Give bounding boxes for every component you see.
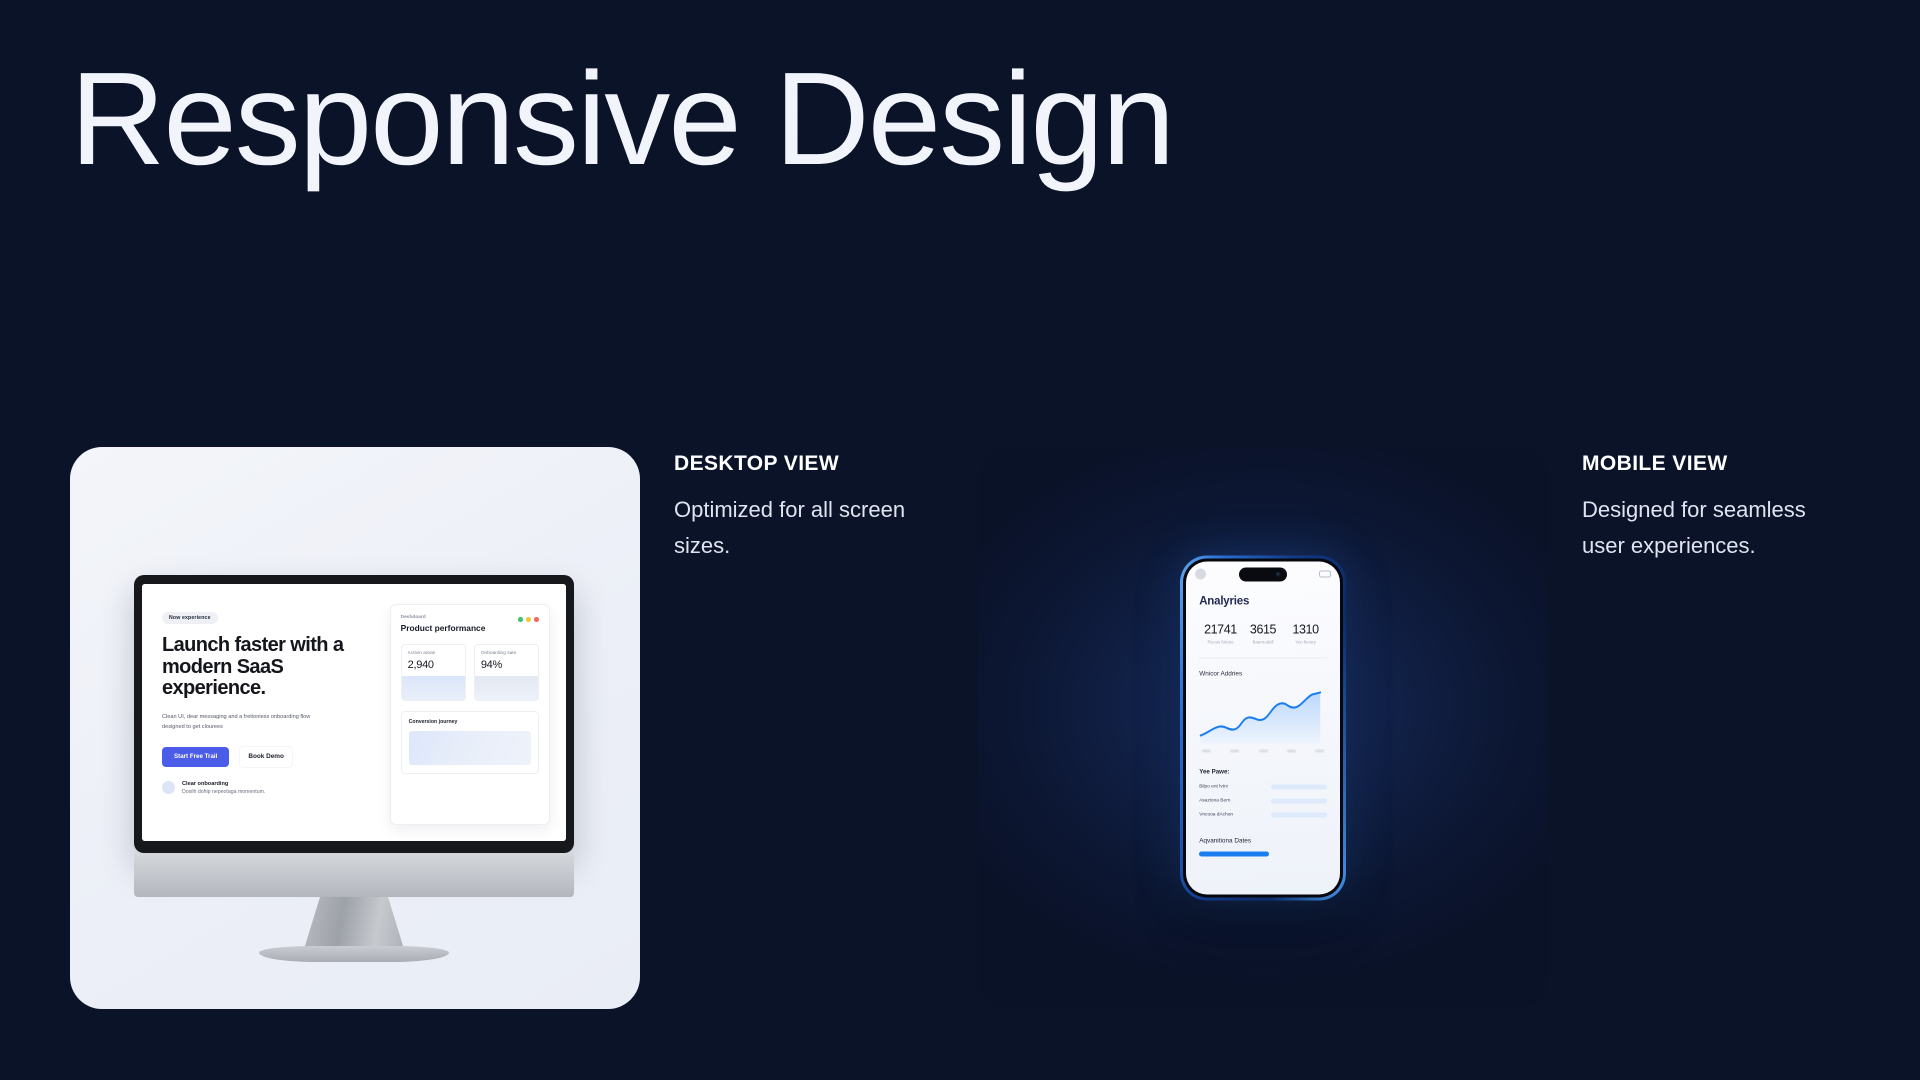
progress-bar <box>1271 785 1327 789</box>
stat-value: 94% <box>481 659 532 671</box>
conversion-journey-panel: Conversion journey <box>401 711 539 774</box>
phone-footer-title: Aqvanitiona Dates <box>1199 837 1327 844</box>
phone-stat: 3615 Baernodell <box>1242 623 1285 645</box>
phone-stat-label: Reous fotoso <box>1199 639 1242 644</box>
stat-sparkline <box>475 676 538 700</box>
hero-footer: Clear onboarding Dosilh dohip nepeotaga … <box>162 781 368 796</box>
progress-bar <box>1271 813 1327 817</box>
phone-chart-title: Wnicor Addries <box>1199 670 1327 677</box>
dashboard-eyebrow: Deshdoard <box>401 615 486 620</box>
stat-label: Activin areas <box>408 651 459 656</box>
window-maximize-dot-icon[interactable] <box>526 617 531 622</box>
desktop-info-description: Optimized for all screen sizes. <box>674 492 924 563</box>
window-close-dot-icon[interactable] <box>534 617 539 622</box>
axis-tick <box>1315 749 1324 752</box>
stat-value: 2,940 <box>408 659 459 671</box>
mobile-info-column: MOBILE VIEW Designed for seamless user e… <box>1582 452 1832 563</box>
phone-stat: 21741 Reous fotoso <box>1199 623 1242 645</box>
list-item-label: Vncooa dAchon <box>1199 812 1233 817</box>
hero-section: Now experience Launch faster with a mode… <box>142 584 384 841</box>
hero-actions: Start Free Trail Book Demo <box>162 746 368 768</box>
desktop-info-kicker: DESKTOP VIEW <box>674 452 924 476</box>
phone-content: Analyries 21741 Reous fotoso 3615 Baerno… <box>1186 588 1340 895</box>
hero-footer-title: Clear onboarding <box>182 781 265 787</box>
phone-stat-value: 1310 <box>1284 623 1327 637</box>
battery-icon <box>1319 571 1331 578</box>
phone-area-chart <box>1199 685 1327 745</box>
phone-bezel: Analyries 21741 Reous fotoso 3615 Baerno… <box>1183 559 1343 898</box>
mobile-info-kicker: MOBILE VIEW <box>1582 452 1832 476</box>
desktop-showcase-card: Now experience Launch faster with a mode… <box>70 447 640 1009</box>
dashboard-stats: Activin areas 2,940 Onboarding sate 94% <box>401 644 539 701</box>
window-controls <box>518 615 539 622</box>
hero-body-text: Clean UI, dear messaging and a fretionie… <box>162 712 312 733</box>
list-item-label: Asaziona Bern <box>1199 798 1230 803</box>
list-item[interactable]: Vncooa dAchon <box>1199 812 1327 817</box>
axis-tick <box>1230 749 1239 752</box>
monitor-stand-base <box>259 946 449 962</box>
list-item[interactable]: Bilpo ent lvtni <box>1199 784 1327 789</box>
desktop-monitor: Now experience Launch faster with a mode… <box>134 575 574 962</box>
stat-sparkline <box>402 676 465 700</box>
dashboard-header: Deshdoard Product performance <box>401 615 539 633</box>
phone-stat-label: Baernodell <box>1242 639 1285 644</box>
avatar[interactable] <box>1195 569 1206 580</box>
phone-screen: Analyries 21741 Reous fotoso 3615 Baerno… <box>1186 562 1340 895</box>
axis-tick <box>1287 749 1296 752</box>
list-item[interactable]: Asaziona Bern <box>1199 798 1327 803</box>
stat-card: Activin areas 2,940 <box>401 644 466 701</box>
phone-list-title: Yee Pawe: <box>1199 768 1327 775</box>
hero-badge: Now experience <box>162 612 218 624</box>
conversion-chart <box>409 731 531 765</box>
panel-title: Conversion journey <box>409 719 531 725</box>
window-minimize-dot-icon[interactable] <box>518 617 523 622</box>
phone-stat-label: Yeu feoory <box>1284 639 1327 644</box>
page-title: Responsive Design <box>70 50 1173 189</box>
phone-footer-progress <box>1199 851 1269 856</box>
list-item-label: Bilpo ent lvtni <box>1199 784 1228 789</box>
axis-tick <box>1202 749 1211 752</box>
dashboard-title: Product performance <box>401 623 486 633</box>
progress-bar <box>1271 799 1327 803</box>
monitor-bezel: Now experience Launch faster with a mode… <box>134 575 574 853</box>
stat-card: Onboarding sate 94% <box>474 644 539 701</box>
stat-label: Onboarding sate <box>481 651 532 656</box>
phone-page-title: Analyries <box>1199 596 1327 608</box>
phone-stat: 1310 Yeu feoory <box>1284 623 1327 645</box>
mobile-phone: Analyries 21741 Reous fotoso 3615 Baerno… <box>1180 556 1346 901</box>
check-circle-icon <box>162 781 175 794</box>
hero-footer-subtitle: Dosilh dohip nepeotaga momentum. <box>182 789 265 795</box>
monitor-stand-neck <box>304 897 404 949</box>
divider <box>1199 657 1327 658</box>
phone-frame: Analyries 21741 Reous fotoso 3615 Baerno… <box>1180 556 1346 901</box>
dynamic-island <box>1239 568 1287 582</box>
mobile-showcase-card: Analyries 21741 Reous fotoso 3615 Baerno… <box>978 447 1548 1009</box>
phone-stats-row: 21741 Reous fotoso 3615 Baernodell 1310 … <box>1199 623 1327 645</box>
desktop-info-column: DESKTOP VIEW Optimized for all screen si… <box>674 452 924 563</box>
axis-tick <box>1259 749 1268 752</box>
mobile-info-description: Designed for seamless user experiences. <box>1582 492 1832 563</box>
dashboard-panel: Deshdoard Product performance <box>390 604 550 825</box>
monitor-screen: Now experience Launch faster with a mode… <box>142 584 566 841</box>
phone-chart-axis <box>1199 749 1327 752</box>
hero-headline: Launch faster with a modern SaaS experie… <box>162 635 368 700</box>
monitor-chin <box>134 853 574 897</box>
phone-stat-value: 21741 <box>1199 623 1242 637</box>
start-free-trial-button[interactable]: Start Free Trail <box>162 747 229 767</box>
phone-stat-value: 3615 <box>1242 623 1285 637</box>
dashboard-section: Deshdoard Product performance <box>384 584 566 841</box>
book-demo-button[interactable]: Book Demo <box>239 746 293 768</box>
